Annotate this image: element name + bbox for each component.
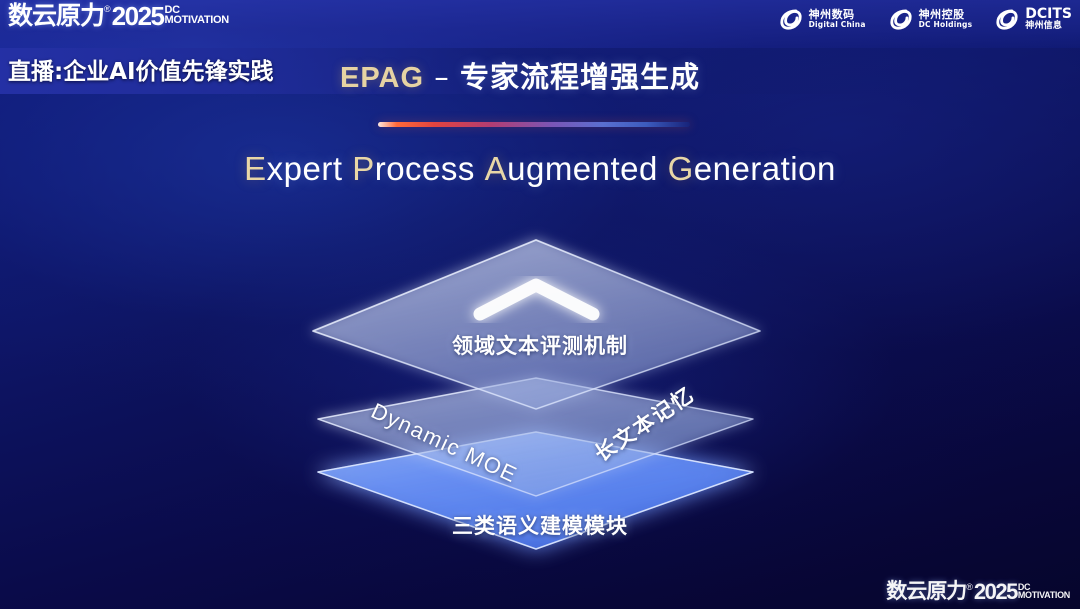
subtitle-rest-expert: xpert	[267, 150, 343, 187]
partner-logo-dcits: DCITS 神州信息	[994, 6, 1072, 32]
partner-logo-digital-china: 神州数码 Digital China	[778, 6, 866, 32]
partner-text-digital-china: 神州数码 Digital China	[809, 9, 866, 28]
partner-en-name: DC Holdings	[919, 21, 973, 29]
partner-logo-group: 神州数码 Digital China 神州控股 DC Holdings DCIT…	[778, 6, 1072, 32]
title-acronym: EPAG	[340, 62, 424, 94]
live-stream-subtitle: 直播:企业AI价值先锋实践	[8, 52, 274, 86]
title-chinese: 专家流程增强生成	[460, 60, 700, 94]
swirl-icon	[888, 6, 914, 32]
partner-text-dcits: DCITS 神州信息	[1025, 7, 1072, 31]
brand-dc-motivation: DC MOTIVATION	[165, 5, 229, 25]
subtitle-cap-a: A	[485, 150, 508, 187]
layer-label-top: 领域文本评测机制	[0, 330, 1080, 360]
layer-top	[313, 240, 760, 409]
brand-registered-mark: ®	[104, 5, 111, 14]
swirl-icon	[778, 6, 804, 32]
partner-text-dc-holdings: 神州控股 DC Holdings	[919, 9, 973, 28]
brand-dc-line2: MOTIVATION	[165, 15, 229, 25]
subtitle-rest-augmented: ugmented	[507, 150, 658, 187]
brand-name-cn: 数云原力	[8, 3, 104, 28]
page-title: EPAG – 专家流程增强生成	[340, 54, 700, 96]
swirl-icon	[994, 6, 1020, 32]
title-divider	[378, 122, 690, 127]
layer-label-long-text-memory: 长文本记忆	[588, 379, 700, 468]
brand-registered-mark: ®	[966, 583, 973, 592]
brand-year: 2025	[112, 3, 164, 29]
title-dash: –	[424, 60, 460, 94]
subtitle-cap-p: P	[352, 150, 375, 187]
brand-logo: 数云原力 ® 2025 DC MOTIVATION	[8, 3, 229, 29]
subtitle-rest-generation: eneration	[694, 150, 836, 187]
brand-dc-motivation: DC MOTIVATION	[1018, 583, 1070, 600]
subtitle-cap-g: G	[668, 150, 694, 187]
subtitle-english: Expert Process Augmented Generation	[0, 150, 1080, 188]
brand-name-cn: 数云原力	[886, 581, 966, 602]
brand-dc-line2: MOTIVATION	[1018, 591, 1070, 599]
partner-en-name: DCITS	[1025, 7, 1072, 22]
subtitle-rest-process: rocess	[375, 150, 475, 187]
slide-canvas: 数云原力 ® 2025 DC MOTIVATION 直播:企业AI价值先锋实践 …	[0, 0, 1080, 609]
chevron-up-icon	[480, 285, 593, 314]
layer-label-bottom: 三类语义建模模块	[0, 510, 1080, 540]
partner-cn-name: 神州信息	[1025, 22, 1072, 31]
brand-watermark: 数云原力 ® 2025 DC MOTIVATION	[886, 581, 1070, 603]
brand-year: 2025	[974, 581, 1017, 603]
partner-logo-dc-holdings: 神州控股 DC Holdings	[888, 6, 973, 32]
layer-label-dynamic-moe: Dynamic MOE	[367, 398, 521, 488]
subtitle-cap-e: E	[244, 150, 267, 187]
partner-en-name: Digital China	[809, 21, 866, 29]
